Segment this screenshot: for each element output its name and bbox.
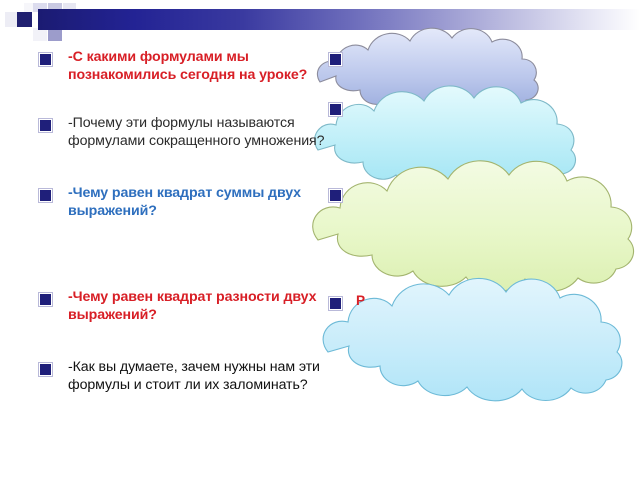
header-gradient-bar <box>38 9 640 30</box>
header-decoration <box>0 0 640 46</box>
bullet-label-square-of-sum: -Чему равен квадрат суммы двух выражений… <box>68 184 340 221</box>
header-square-white-small <box>24 3 33 12</box>
header-square-g <box>63 3 76 17</box>
bullet-square-icon <box>40 190 51 201</box>
bullet-square-icon <box>40 294 51 305</box>
bullet-square-icon <box>40 120 51 131</box>
header-square-b <box>33 3 47 12</box>
list-item-formulas-today[interactable]: -С какими формулами мы познакомились сег… <box>40 48 340 85</box>
header-square-e <box>48 17 62 28</box>
cloud-periwinkle-icon <box>317 28 538 115</box>
bullet-label-square-of-difference: -Чему равен квадрат разности двух выраже… <box>68 288 340 325</box>
header-square-pale-left <box>5 12 17 27</box>
bullet-square-icon <box>40 54 51 65</box>
bullet-square-icon <box>40 364 51 375</box>
bullet-label-formulas-today: -С какими формулами мы познакомились сег… <box>68 48 340 85</box>
header-square-h <box>63 17 76 28</box>
list-item-square-of-sum[interactable]: -Чему равен квадрат суммы двух выражений… <box>40 184 340 221</box>
bullet-label-why-abbreviated: -Почему эти формулы называются формулами… <box>68 114 340 151</box>
bullet-label-why-remember: -Как вы думаете, зачем нужны нам эти фор… <box>68 358 340 395</box>
slide-canvas: Р -С какими формулами мы познакомились с… <box>0 0 640 480</box>
list-item-why-remember[interactable]: -Как вы думаете, зачем нужны нам эти фор… <box>40 358 340 395</box>
cloud-green-icon <box>313 161 634 292</box>
header-square-accent <box>17 12 32 27</box>
cloud-cyan-icon <box>315 86 576 192</box>
header-square-c <box>33 28 47 41</box>
list-item-square-of-difference[interactable]: -Чему равен квадрат разности двух выраже… <box>40 288 340 325</box>
list-item-why-abbreviated[interactable]: -Почему эти формулы называются формулами… <box>40 114 340 151</box>
header-square-d <box>48 3 62 17</box>
right-bullet-label: Р <box>356 292 365 310</box>
header-square-f <box>48 28 62 41</box>
cloud-lightblue-icon <box>323 278 622 400</box>
